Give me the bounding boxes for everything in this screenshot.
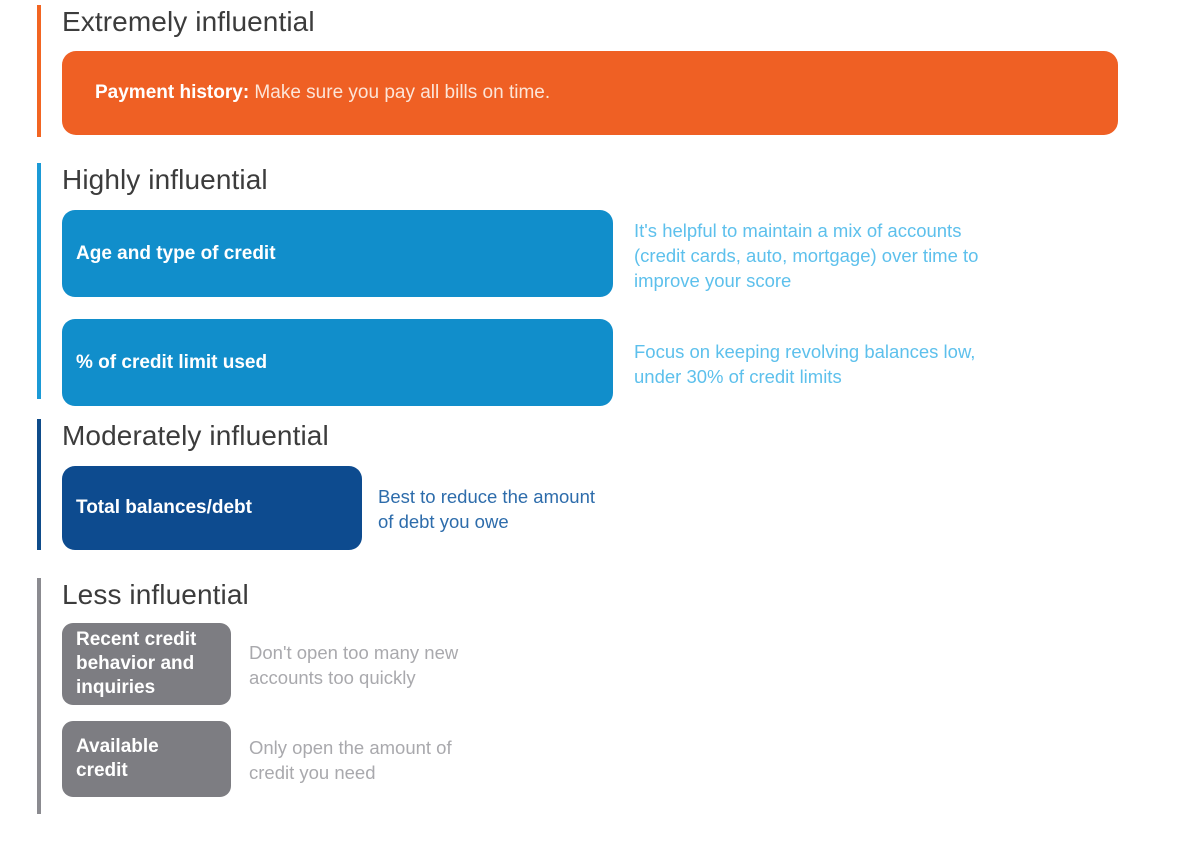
- section-heading-moderately-influential: Moderately influential: [62, 419, 440, 453]
- factor-row-age-and-type-of-credit: Age and type of credit It's helpful to m…: [62, 210, 718, 297]
- factor-label-rest-payment-history: Make sure you pay all bills on time.: [249, 82, 550, 103]
- factor-pill-text-payment-history: Payment history: Make sure you pay all b…: [95, 82, 550, 104]
- factor-label-recent-credit-behavior: Recent credit behavior and inquiries: [76, 628, 196, 700]
- factor-description-percent-of-credit-limit-used: Focus on keeping revolving balances low,…: [634, 339, 975, 389]
- factor-label-age-and-type-of-credit: Age and type of credit: [76, 243, 276, 265]
- accent-bar-highly-influential: [37, 163, 41, 399]
- section-body-highly-influential: Highly influential Age and type of credi…: [62, 163, 718, 406]
- factor-row-available-credit: Available credit Only open the amount of…: [62, 721, 323, 797]
- factor-row-percent-of-credit-limit-used: % of credit limit used Focus on keeping …: [62, 319, 718, 406]
- accent-bar-extremely-influential: [37, 5, 41, 137]
- section-heading-extremely-influential: Extremely influential: [62, 5, 1118, 39]
- factor-label-strong-payment-history: Payment history:: [95, 82, 249, 103]
- factor-pill-total-balances-debt[interactable]: Total balances/debt: [62, 466, 362, 550]
- factor-pill-percent-of-credit-limit-used[interactable]: % of credit limit used: [62, 319, 613, 406]
- factor-label-percent-of-credit-limit-used: % of credit limit used: [76, 352, 267, 374]
- section-body-moderately-influential: Moderately influential Total balances/de…: [62, 419, 440, 550]
- accent-bar-moderately-influential: [37, 419, 41, 550]
- factor-description-recent-credit-behavior: Don't open too many new accounts too qui…: [249, 640, 458, 690]
- credit-factors-infographic: Extremely influential Payment history: M…: [0, 0, 1200, 868]
- factor-description-age-and-type-of-credit: It's helpful to maintain a mix of accoun…: [634, 218, 978, 293]
- factor-pill-age-and-type-of-credit[interactable]: Age and type of credit: [62, 210, 613, 297]
- factor-row-recent-credit-behavior: Recent credit behavior and inquiries Don…: [62, 623, 323, 705]
- section-body-extremely-influential: Extremely influential Payment history: M…: [62, 5, 1118, 135]
- factor-pill-available-credit[interactable]: Available credit: [62, 721, 231, 797]
- accent-bar-less-influential: [37, 578, 41, 814]
- section-heading-less-influential: Less influential: [62, 578, 323, 612]
- factor-row-payment-history: Payment history: Make sure you pay all b…: [62, 39, 1118, 135]
- factor-description-total-balances-debt: Best to reduce the amount of debt you ow…: [378, 484, 595, 534]
- section-body-less-influential: Less influential Recent credit behavior …: [62, 578, 323, 797]
- factor-row-total-balances-debt: Total balances/debt Best to reduce the a…: [62, 466, 440, 550]
- factor-pill-recent-credit-behavior[interactable]: Recent credit behavior and inquiries: [62, 623, 231, 705]
- factor-pill-payment-history[interactable]: Payment history: Make sure you pay all b…: [62, 51, 1118, 135]
- factor-label-available-credit: Available credit: [76, 735, 159, 783]
- factor-label-total-balances-debt: Total balances/debt: [76, 497, 252, 519]
- section-heading-highly-influential: Highly influential: [62, 163, 718, 197]
- factor-description-available-credit: Only open the amount of credit you need: [249, 735, 452, 785]
